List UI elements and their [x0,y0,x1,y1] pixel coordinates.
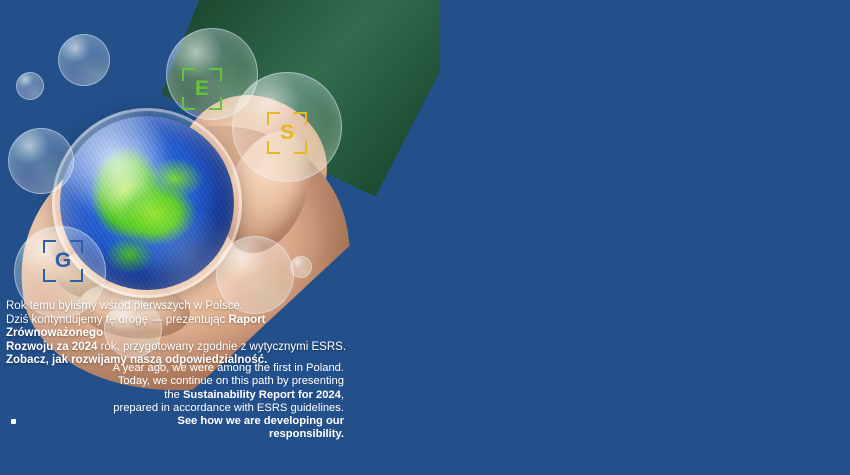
copy-en-line1: A year ago, we were among the first in P… [100,362,344,375]
copy-pl-line2: Dziś kontynuujemy tę drogę — prezentując… [6,314,346,341]
bubble-icon [8,128,74,194]
badge-social: S [267,112,307,154]
copy-pl-line3-text: rok, przygotowany zgodnie z wytycznymi E… [97,341,346,353]
copy-pl-line3: Rozwoju za 2024 rok, przygotowany zgodni… [6,341,346,355]
badge-governance: G [43,240,83,282]
copy-en-line5: See how we are developing our responsibi… [100,415,344,442]
copy-en-line4: prepared in accordance with ESRS guideli… [100,402,344,415]
copy-pl-line1: Rok temu byliśmy wśród pierwszych w Pols… [6,300,346,314]
copy-pl-line2-text: Dziś kontynuujemy tę drogę — prezentując [6,314,228,326]
copy-en-line2: Today, we continue on this path by prese… [100,375,344,388]
dot-marker [11,419,16,424]
copy-en-line3: the Sustainability Report for 2024, [100,389,344,402]
badge-letter: E [182,68,222,110]
promo-banner: E S G Rok temu byliśmy wśród pierwszych … [0,0,850,475]
copy-polish: Rok temu byliśmy wśród pierwszych w Pols… [6,300,346,368]
badge-environmental: E [182,68,222,110]
bubble-icon [16,72,44,100]
badge-letter: G [43,240,83,282]
badge-letter: S [267,112,307,154]
copy-pl-line3-strong: Rozwoju za 2024 [6,341,97,353]
bubble-icon [290,256,312,278]
bubble-icon [58,34,110,86]
copy-en-line3-text: the [164,389,183,401]
copy-en-line5-strong: See how we are developing our responsibi… [177,415,344,440]
copy-en-line3-strong: Sustainability Report for 2024 [183,389,341,401]
copy-en-line3-comma: , [341,389,344,401]
copy-english: A year ago, we were among the first in P… [100,362,344,442]
